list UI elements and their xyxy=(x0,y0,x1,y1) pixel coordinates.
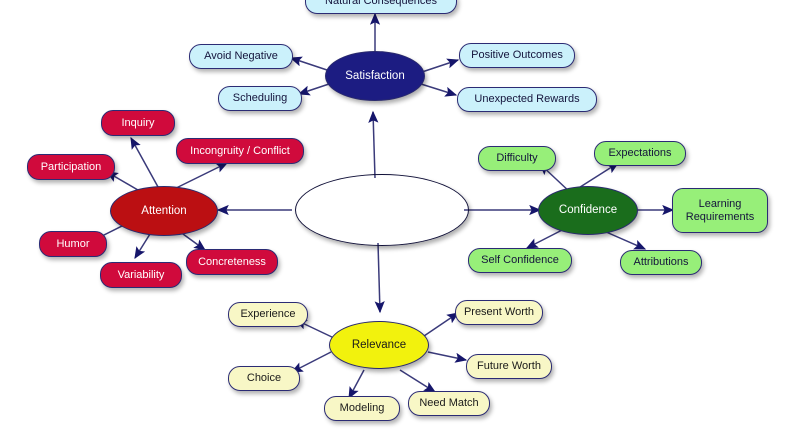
node-leaf-incongruity-conflict[interactable]: Incongruity / Conflict xyxy=(176,138,304,164)
node-leaf-natural-consequences[interactable]: Natural Consequences xyxy=(305,0,457,14)
node-leaf-participation[interactable]: Participation xyxy=(27,154,115,180)
node-leaf-unexpected-rewards[interactable]: Unexpected Rewards xyxy=(457,87,597,112)
node-label: Unexpected Rewards xyxy=(474,93,579,105)
node-label: Humor xyxy=(56,238,89,250)
node-leaf-present-worth[interactable]: Present Worth xyxy=(455,300,543,325)
node-leaf-avoid-negative[interactable]: Avoid Negative xyxy=(189,44,293,69)
node-label: ARCS xyxy=(350,198,413,223)
node-leaf-scheduling[interactable]: Scheduling xyxy=(218,86,302,111)
node-leaf-expectations[interactable]: Expectations xyxy=(594,141,686,166)
edge-relevance-present-worth xyxy=(424,313,458,336)
node-label: Confidence xyxy=(559,204,617,217)
node-leaf-humor[interactable]: Humor xyxy=(39,231,107,257)
edge-center-relevance xyxy=(378,243,380,312)
node-label: Attention xyxy=(141,205,186,218)
node-label: Concreteness xyxy=(198,256,266,268)
edge-satisfaction-unexpected-rewards xyxy=(421,84,456,95)
node-label: Participation xyxy=(41,161,102,173)
node-label: Future Worth xyxy=(477,360,541,372)
node-leaf-concreteness[interactable]: Concreteness xyxy=(186,249,278,275)
node-leaf-learning-requirements[interactable]: Learning Requirements xyxy=(672,188,768,233)
node-leaf-difficulty[interactable]: Difficulty xyxy=(478,146,556,171)
node-leaf-inquiry[interactable]: Inquiry xyxy=(101,110,175,136)
node-hub-satisfaction[interactable]: Satisfaction xyxy=(325,51,425,101)
edge-relevance-future-worth xyxy=(428,352,466,360)
node-label: Attributions xyxy=(633,256,688,268)
node-label: Choice xyxy=(247,372,281,384)
node-label: Difficulty xyxy=(496,152,537,164)
node-label: Natural Consequences xyxy=(325,0,437,7)
node-label: Self Confidence xyxy=(481,254,559,266)
node-arcs-center[interactable]: ARCS xyxy=(295,174,469,246)
node-label: Need Match xyxy=(419,397,478,409)
node-label: Positive Outcomes xyxy=(471,49,563,61)
edge-relevance-modeling xyxy=(349,370,364,398)
node-label: Inquiry xyxy=(121,117,154,129)
node-label: Relevance xyxy=(352,339,406,352)
node-leaf-modeling[interactable]: Modeling xyxy=(324,396,400,421)
node-hub-relevance[interactable]: Relevance xyxy=(329,321,429,369)
node-leaf-need-match[interactable]: Need Match xyxy=(408,391,490,416)
edge-relevance-need-match xyxy=(400,370,435,392)
node-hub-confidence[interactable]: Confidence xyxy=(538,186,638,235)
mind-map-canvas: ARCS Satisfaction Natural Consequences A… xyxy=(0,0,800,445)
node-leaf-variability[interactable]: Variability xyxy=(100,262,182,288)
node-label: Avoid Negative xyxy=(204,50,278,62)
edge-center-satisfaction xyxy=(373,112,375,178)
node-leaf-self-confidence[interactable]: Self Confidence xyxy=(468,248,572,273)
node-leaf-positive-outcomes[interactable]: Positive Outcomes xyxy=(459,43,575,68)
node-label: Modeling xyxy=(340,402,385,414)
edge-satisfaction-positive-outcomes xyxy=(422,60,458,72)
edge-satisfaction-avoid-negative xyxy=(291,58,327,70)
node-hub-attention[interactable]: Attention xyxy=(110,186,218,236)
node-label: Learning Requirements xyxy=(686,198,754,223)
node-leaf-future-worth[interactable]: Future Worth xyxy=(466,354,552,379)
edge-satisfaction-scheduling xyxy=(299,84,329,94)
node-label: Expectations xyxy=(609,147,672,159)
node-leaf-choice[interactable]: Choice xyxy=(228,366,300,391)
node-leaf-attributions[interactable]: Attributions xyxy=(620,250,702,275)
node-label: Experience xyxy=(240,308,295,320)
node-label: Satisfaction xyxy=(345,70,404,83)
node-label: Present Worth xyxy=(464,306,534,318)
node-label: Scheduling xyxy=(233,92,287,104)
node-leaf-experience[interactable]: Experience xyxy=(228,302,308,327)
edge-relevance-choice xyxy=(292,352,331,372)
node-label: Incongruity / Conflict xyxy=(190,145,290,157)
node-label: Variability xyxy=(118,269,165,281)
